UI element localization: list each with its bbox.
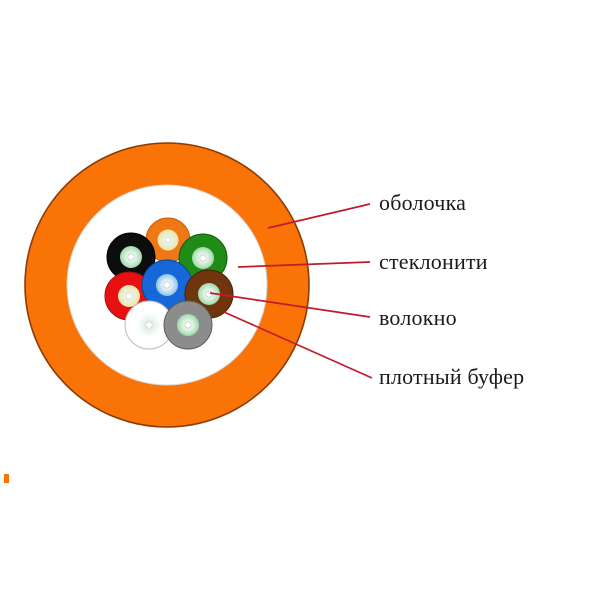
fiber-white-core bbox=[146, 322, 152, 328]
callout-label-sheath: оболочка bbox=[379, 192, 466, 214]
fiber-black-core bbox=[128, 254, 134, 260]
callout-label-fiber: волокно bbox=[379, 307, 457, 329]
fiber-red-core bbox=[126, 293, 132, 299]
fiber-orange-core bbox=[165, 237, 171, 243]
fiber-gray-core bbox=[185, 322, 191, 328]
fiber-blue-core bbox=[164, 282, 170, 288]
corner-artifact-mark bbox=[4, 474, 9, 483]
callout-label-glass-yarn: стеклонити bbox=[379, 251, 488, 273]
callout-label-tight-buffer: плотный буфер bbox=[379, 366, 524, 388]
cable-cross-section-svg bbox=[0, 0, 600, 600]
fiber-green-core bbox=[200, 255, 206, 261]
diagram-canvas: оболочка стеклонити волокно плотный буфе… bbox=[0, 0, 600, 600]
fiber-gray bbox=[164, 301, 212, 349]
